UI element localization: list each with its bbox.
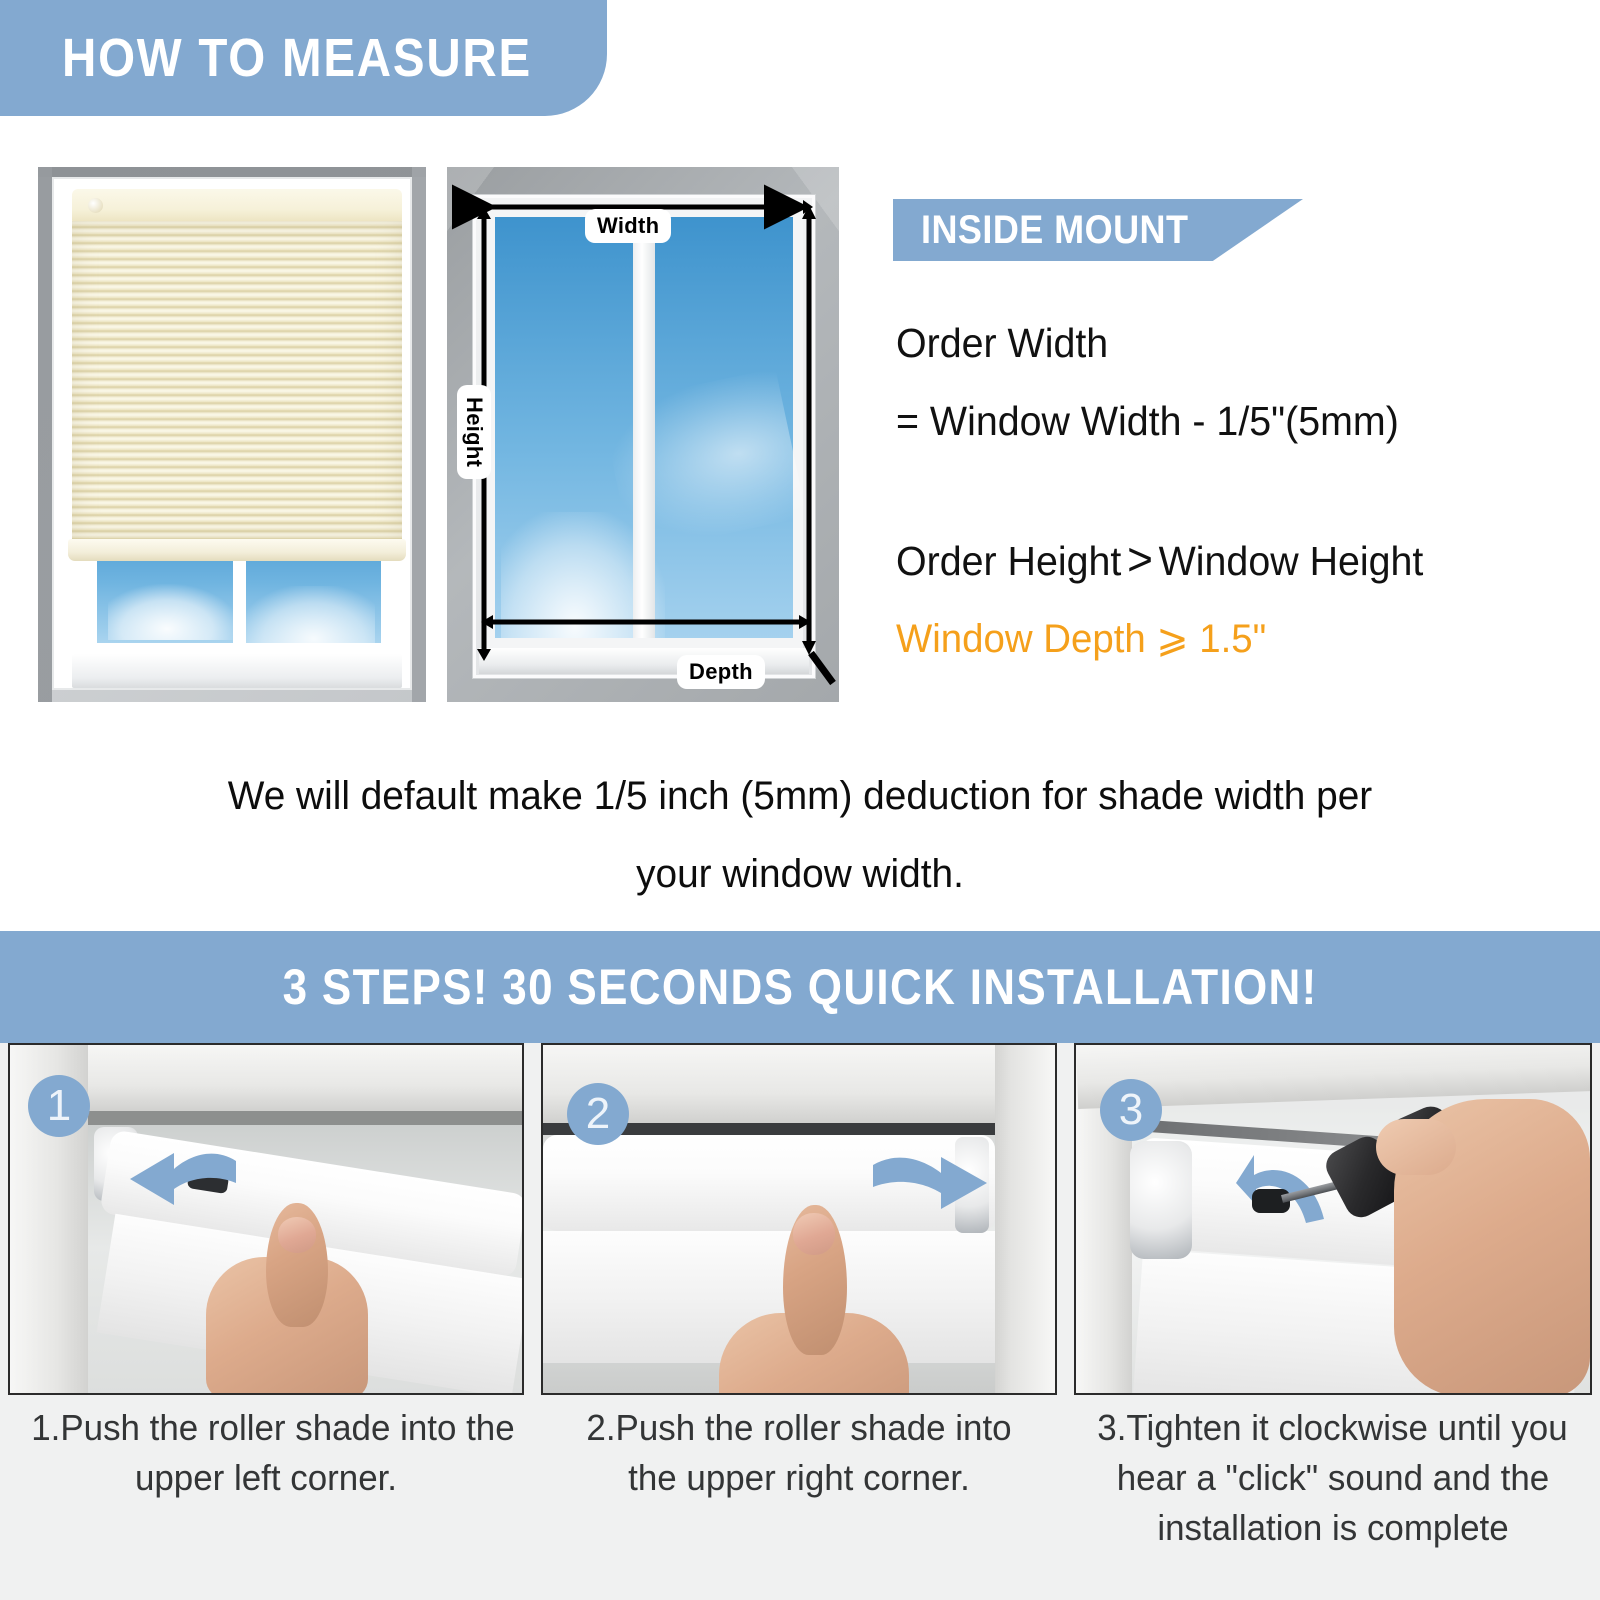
step-3-photo: 3 <box>1074 1043 1592 1395</box>
step-2-photo: 2 <box>541 1043 1057 1395</box>
order-height-left: Order Height <box>896 538 1121 584</box>
installation-banner: 3 STEPS! 30 SECONDS QUICK INSTALLATION! <box>0 931 1600 1043</box>
installation-step-2: 2 2.Push the roller shade into the upper… <box>541 1043 1057 1395</box>
window-depth-rule: Window Depth ⩾ 1.5" <box>896 609 1558 669</box>
installation-steps: 1 1.Push the roller shade into the upper… <box>0 1043 1600 1600</box>
infographic-page: HOW TO MEASURE <box>0 0 1600 1600</box>
installation-step-1: 1 1.Push the roller shade into the upper… <box>8 1043 524 1395</box>
inside-mount-banner: INSIDE MOUNT <box>893 199 1303 261</box>
step-3-caption: 3.Tighten it clockwise until you hear a … <box>1074 1403 1592 1553</box>
cloud-left <box>108 584 239 641</box>
step-1-photo: 1 <box>8 1043 524 1395</box>
note-line-2: your window width. <box>121 835 1479 913</box>
inside-mount-title: INSIDE MOUNT <box>921 208 1188 253</box>
width-deduction-note: We will default make 1/5 inch (5mm) dedu… <box>100 757 1500 913</box>
window-jamb-right <box>991 1045 1055 1393</box>
shade-bottom-rail <box>68 539 406 561</box>
installation-step-3: 3 3.Tighten it clockwise until you hear … <box>1074 1043 1592 1395</box>
order-height-rule: Order Height>Window Height <box>896 529 1558 591</box>
shade-endcap <box>1130 1141 1192 1259</box>
label-width: Width <box>585 209 671 243</box>
step-badge-3: 3 <box>1100 1079 1162 1141</box>
page-title: HOW TO MEASURE <box>62 27 532 89</box>
step-2-caption: 2.Push the roller shade into the upper r… <box>541 1403 1057 1503</box>
index-finger <box>1376 1119 1456 1175</box>
order-width-line-2: = Window Width - 1/5"(5mm) <box>896 391 1558 451</box>
inside-mount-rules: Order Width = Window Width - 1/5"(5mm) O… <box>896 313 1586 669</box>
how-to-measure-header-tab: HOW TO MEASURE <box>0 0 607 116</box>
dimension-arrows <box>447 167 839 702</box>
step-1-caption: 1.Push the roller shade into the upper l… <box>8 1403 524 1503</box>
greater-than-icon: > <box>1121 533 1158 585</box>
label-height: Height <box>457 385 491 479</box>
step-2-caption-line-2: the upper right corner. <box>549 1453 1050 1503</box>
step-1-caption-line-2: upper left corner. <box>16 1453 517 1503</box>
step-3-caption-line-1: 3.Tighten it clockwise until you <box>1082 1403 1584 1453</box>
step-1-caption-line-1: 1.Push the roller shade into the <box>16 1403 517 1453</box>
order-width-line-1: Order Width <box>896 313 1558 373</box>
installation-banner-title: 3 STEPS! 30 SECONDS QUICK INSTALLATION! <box>282 958 1317 1016</box>
shade-headrail <box>72 189 402 223</box>
installed-shade-photo <box>38 167 426 702</box>
cellular-shade-fabric <box>72 221 402 541</box>
step-2-caption-line-1: 2.Push the roller shade into <box>549 1403 1050 1453</box>
step-badge-1: 1 <box>28 1075 90 1137</box>
step-3-caption-line-3: installation is complete <box>1082 1503 1584 1553</box>
thumbnail <box>793 1213 835 1255</box>
note-line-1: We will default make 1/5 inch (5mm) dedu… <box>121 757 1479 835</box>
thumbnail <box>278 1217 316 1253</box>
cloud-right <box>239 586 375 648</box>
window-sill <box>72 654 402 688</box>
step-badge-2: 2 <box>567 1083 629 1145</box>
lintel-shadow <box>88 1111 524 1125</box>
window-measurement-diagram: Width Height Depth <box>447 167 839 702</box>
arrow-left-icon <box>128 1149 238 1215</box>
order-height-right: Window Height <box>1159 538 1424 584</box>
label-depth: Depth <box>677 655 765 689</box>
step-3-caption-line-2: hear a "click" sound and the <box>1082 1453 1584 1503</box>
arrow-right-icon <box>871 1153 989 1213</box>
window-lintel <box>88 1045 524 1113</box>
